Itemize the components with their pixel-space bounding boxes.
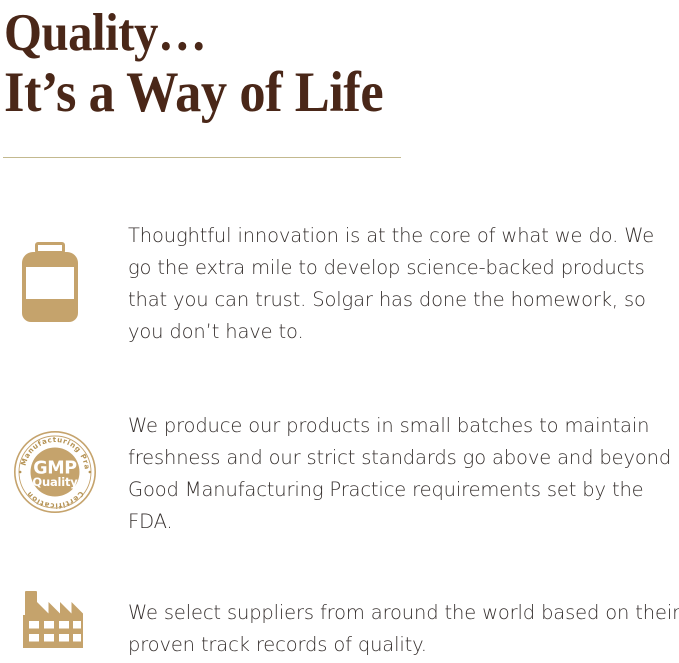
supplement-bottle-icon bbox=[14, 213, 98, 297]
quality-page: Quality… It’s a Way of Life Thoughtful i… bbox=[0, 0, 679, 663]
bottle-label-icon bbox=[26, 267, 74, 299]
feature-text-suppliers: We select suppliers from around the worl… bbox=[128, 597, 679, 661]
page-title-line-2: It’s a Way of Life bbox=[4, 62, 611, 124]
heading-divider bbox=[3, 157, 401, 158]
gmp-quality-seal-icon: Good Manufacturing Practice Certificatio… bbox=[14, 404, 98, 488]
svg-text:Quality: Quality bbox=[32, 475, 78, 489]
feature-text-innovation: Thoughtful innovation is at the core of … bbox=[128, 220, 679, 348]
factory-icon bbox=[14, 578, 98, 662]
feature-text-gmp: We produce our products in small batches… bbox=[128, 410, 679, 538]
page-title-line-1: Quality… bbox=[4, 4, 611, 62]
page-title: Quality… It’s a Way of Life bbox=[4, 4, 664, 124]
